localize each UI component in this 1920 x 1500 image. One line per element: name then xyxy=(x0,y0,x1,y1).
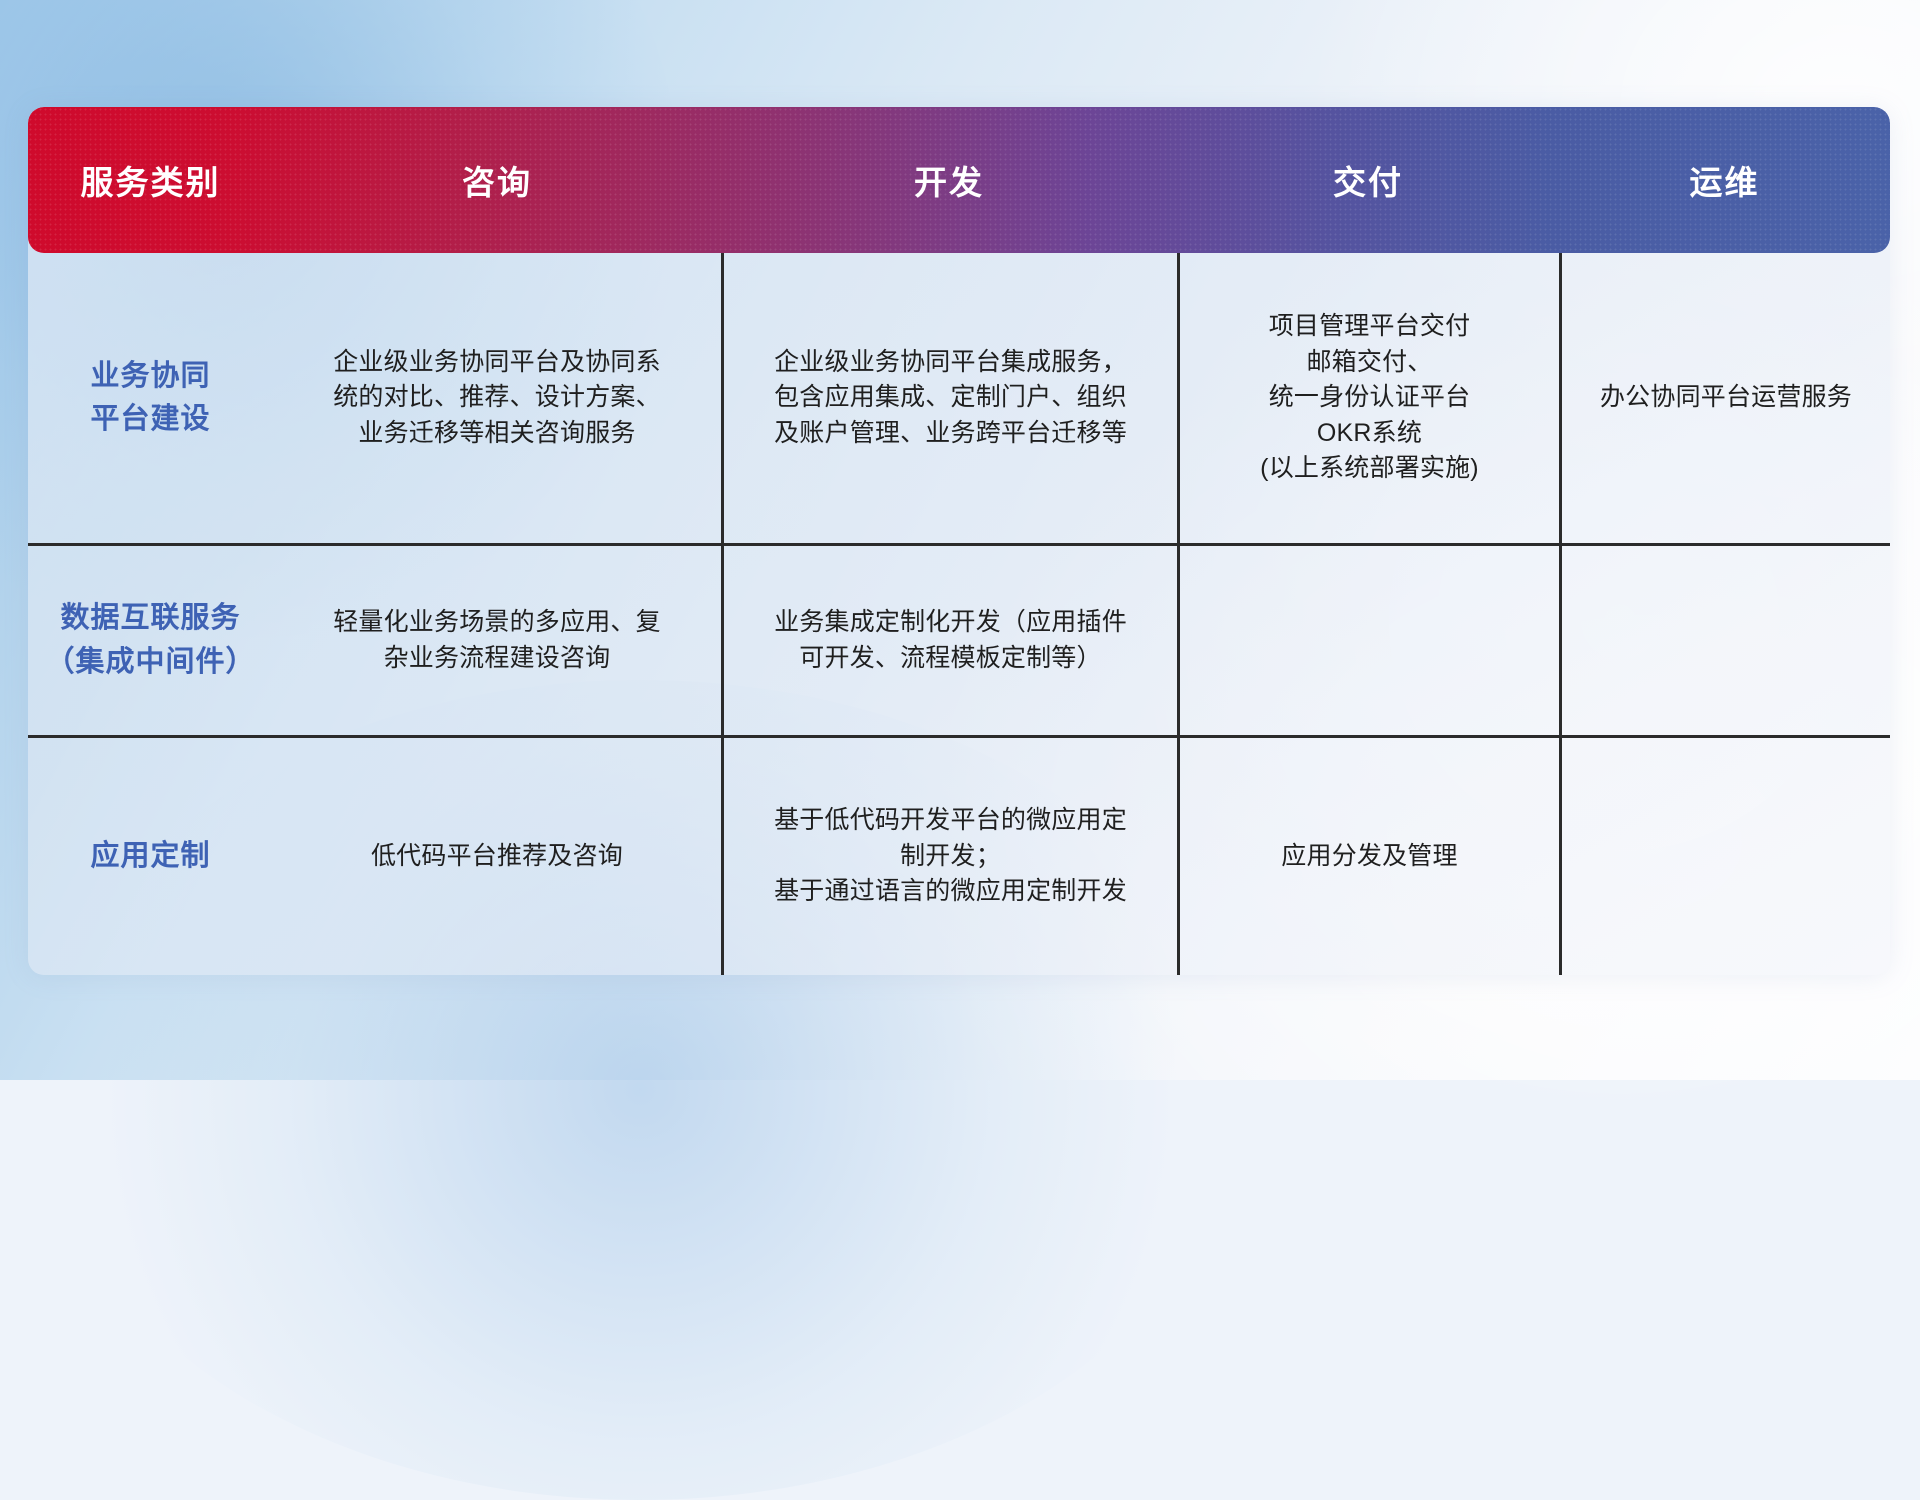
row-category-label: 业务协同 平台建设 xyxy=(28,253,273,543)
column-header-consulting: 咨询 xyxy=(273,107,721,253)
table-header-row: 服务类别 咨询 开发 交付 运维 xyxy=(28,107,1890,253)
cell-consulting: 企业级业务协同平台及协同系 统的对比、推荐、设计方案、 业务迁移等相关咨询服务 xyxy=(273,253,721,543)
cell-delivery: 应用分发及管理 xyxy=(1177,738,1559,975)
table-row: 业务协同 平台建设 企业级业务协同平台及协同系 统的对比、推荐、设计方案、 业务… xyxy=(28,253,1890,543)
cell-development: 企业级业务协同平台集成服务， 包含应用集成、定制门户、组织 及账户管理、业务跨平… xyxy=(721,253,1177,543)
service-matrix-table: 服务类别 咨询 开发 交付 运维 业务协同 平台建设 企业级业务协同平台及协同系… xyxy=(28,107,1890,975)
cell-delivery: 项目管理平台交付 邮箱交付、 统一身份认证平台 OKR系统 (以上系统部署实施) xyxy=(1177,253,1559,543)
table-row: 应用定制 低代码平台推荐及咨询 基于低代码开发平台的微应用定 制开发； 基于通过… xyxy=(28,735,1890,975)
cell-development: 基于低代码开发平台的微应用定 制开发； 基于通过语言的微应用定制开发 xyxy=(721,738,1177,975)
column-header-operations: 运维 xyxy=(1559,107,1890,253)
table-body: 业务协同 平台建设 企业级业务协同平台及协同系 统的对比、推荐、设计方案、 业务… xyxy=(28,253,1890,975)
cell-development: 业务集成定制化开发（应用插件 可开发、流程模板定制等） xyxy=(721,546,1177,735)
cell-operations: 办公协同平台运营服务 xyxy=(1559,253,1890,543)
column-header-category: 服务类别 xyxy=(28,107,273,253)
table-row: 数据互联服务 （集成中间件） 轻量化业务场景的多应用、复 杂业务流程建设咨询 业… xyxy=(28,543,1890,735)
cell-operations xyxy=(1559,546,1890,735)
cell-consulting: 低代码平台推荐及咨询 xyxy=(273,738,721,975)
column-header-delivery: 交付 xyxy=(1177,107,1559,253)
row-category-label: 数据互联服务 （集成中间件） xyxy=(28,546,273,735)
cell-consulting: 轻量化业务场景的多应用、复 杂业务流程建设咨询 xyxy=(273,546,721,735)
cell-operations xyxy=(1559,738,1890,975)
cell-delivery xyxy=(1177,546,1559,735)
row-category-label: 应用定制 xyxy=(28,738,273,975)
column-header-development: 开发 xyxy=(721,107,1177,253)
